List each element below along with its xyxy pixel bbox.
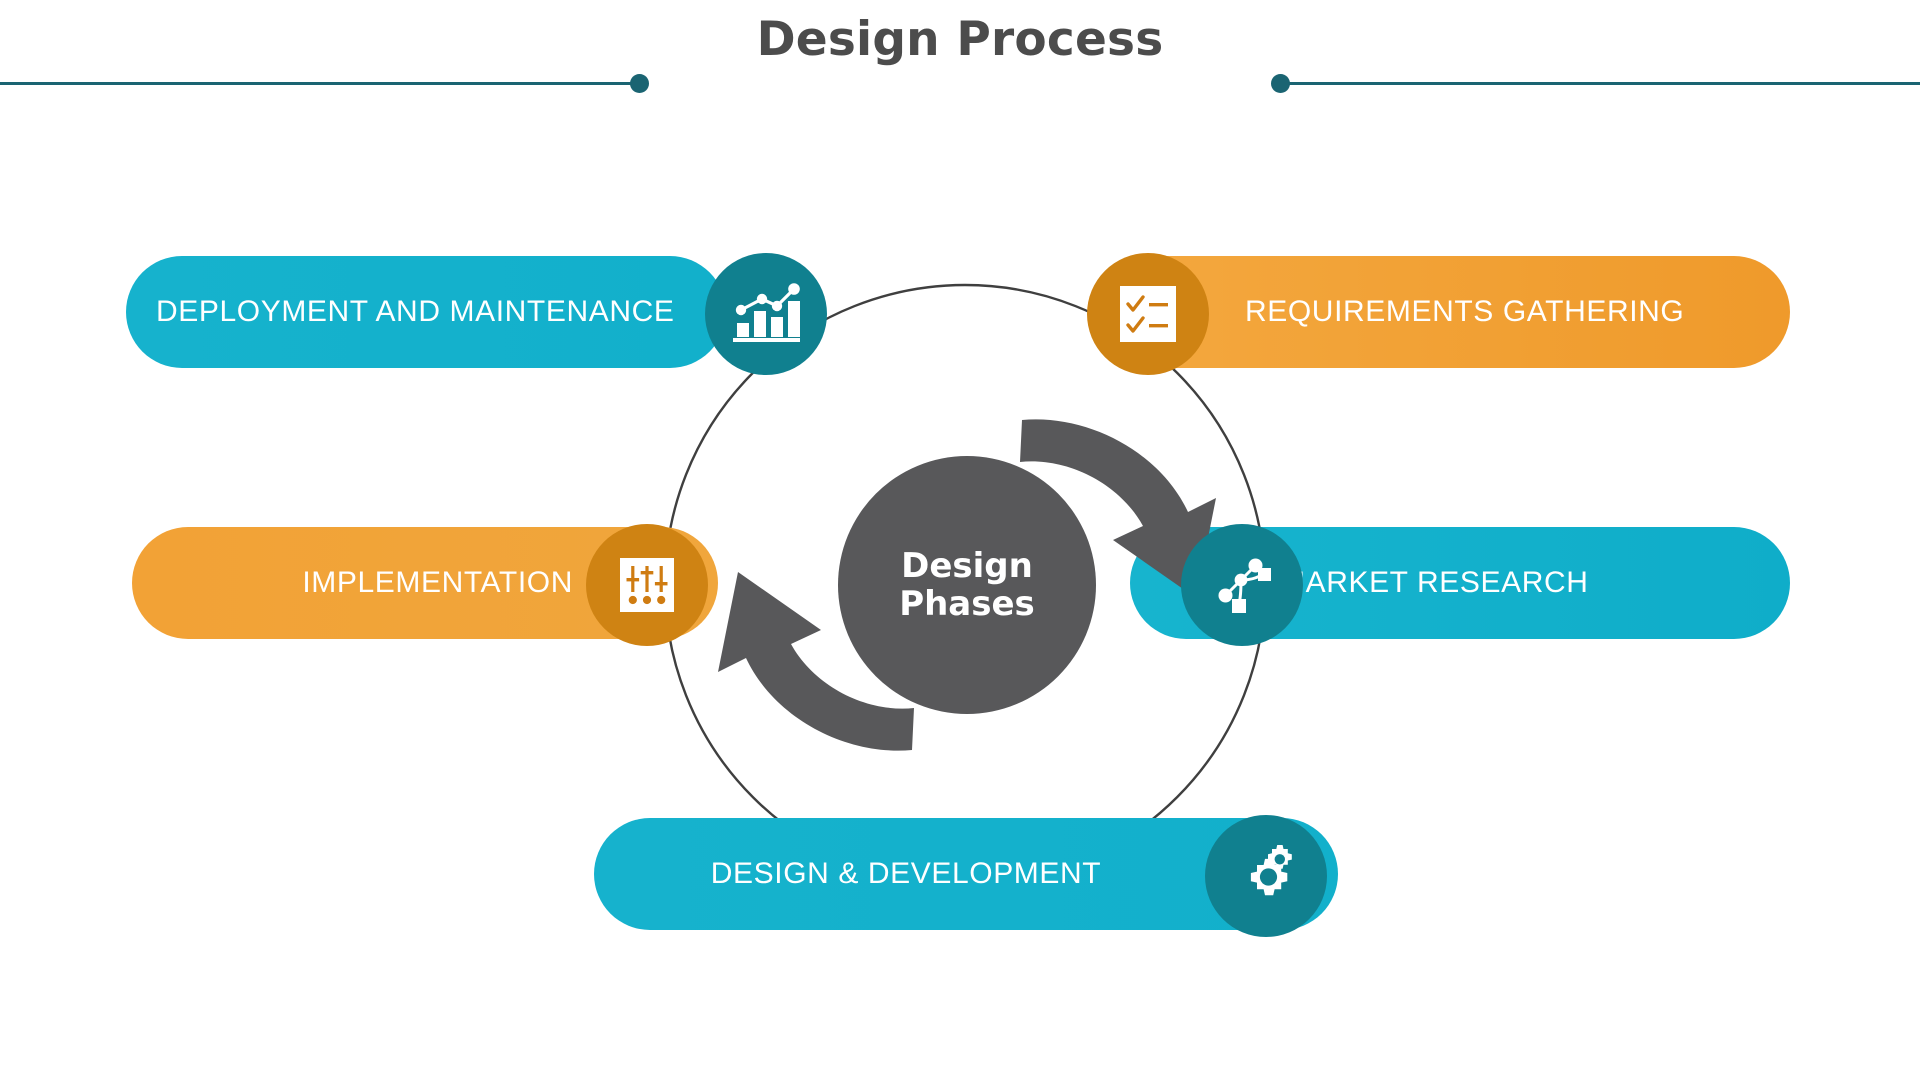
slide-canvas: Design Process DEPLOYMENT AND MAINTENANC… [0,0,1920,1080]
node-pill-deployment-and-maintenance[interactable]: DEPLOYMENT AND MAINTENANCE [126,256,726,368]
network-nodes-icon [1210,553,1274,617]
design-process-cycle-diagram: DEPLOYMENT AND MAINTENANCE [0,0,1920,1080]
node-icon-disc-design-and-development[interactable] [1205,815,1327,937]
node-icon-disc-implementation[interactable] [586,524,708,646]
page-title: Design Process [0,12,1920,67]
gears-icon [1232,843,1300,909]
node-icon-disc-market-research[interactable] [1181,524,1303,646]
node-icon-disc-requirements-gathering[interactable] [1087,253,1209,375]
center-hub[interactable]: Design Phases [838,456,1096,714]
bar-chart-growth-icon [731,283,801,345]
center-hub-label: Design Phases [899,547,1035,623]
checklist-icon [1116,282,1180,346]
sliders-equalizer-icon [616,554,678,616]
node-label-deployment-and-maintenance: DEPLOYMENT AND MAINTENANCE [126,295,726,329]
node-icon-disc-deployment-and-maintenance[interactable] [705,253,827,375]
